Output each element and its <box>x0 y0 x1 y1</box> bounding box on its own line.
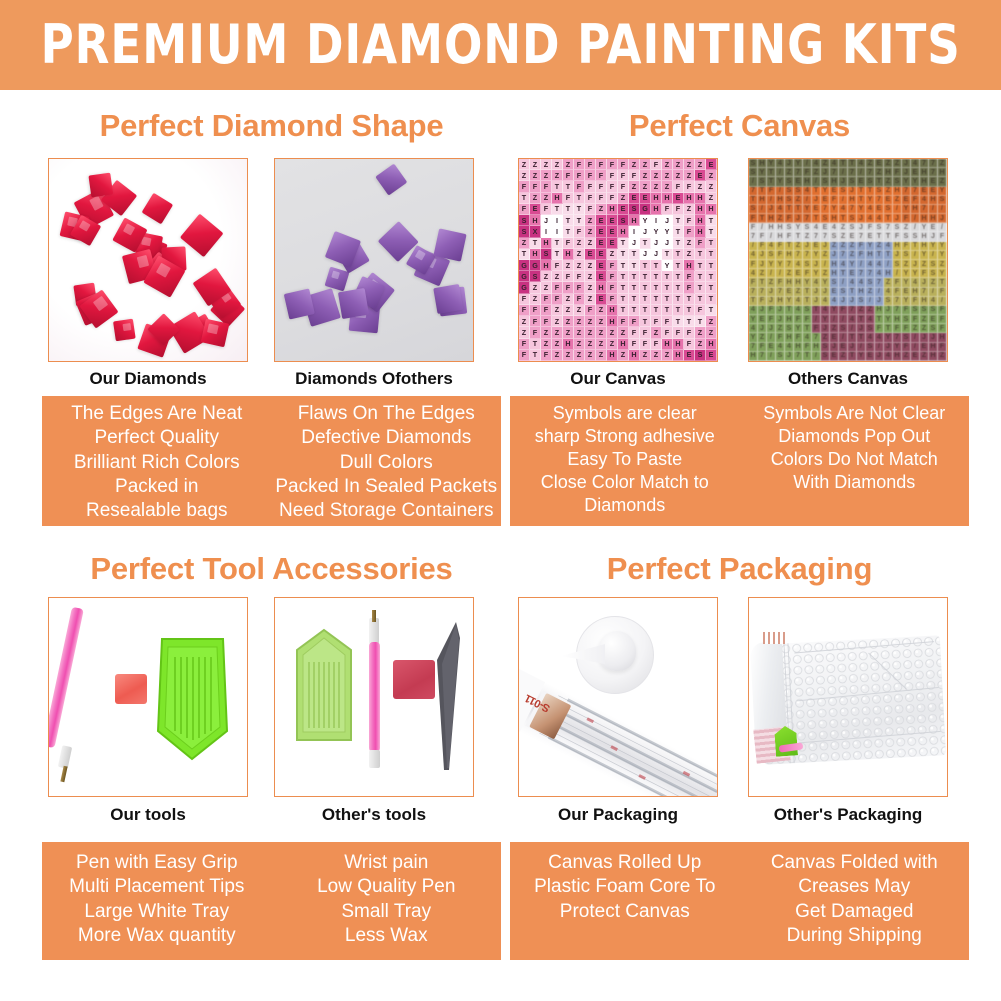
canvas-symbol-cell: S <box>848 177 857 186</box>
canvas-symbol-cell: Y <box>902 278 911 287</box>
canvas-symbol-cell: Z <box>607 327 618 338</box>
canvas-symbol-cell: X <box>530 226 541 237</box>
panel-line: Pen with Easy Grip <box>76 851 238 875</box>
canvas-symbol-cell: S <box>866 343 875 352</box>
canvas-symbol-cell: Z <box>541 339 552 350</box>
canvas-symbol-cell: T <box>640 271 651 282</box>
canvas-symbol-cell: I <box>541 226 552 237</box>
canvas-symbol-cell: I <box>552 215 563 226</box>
canvas-symbol-cell: 4 <box>911 278 920 287</box>
canvas-symbol-cell: / <box>839 196 848 205</box>
canvas-symbol-cell: Y <box>902 297 911 306</box>
canvas-symbol-cell: F <box>911 196 920 205</box>
canvas-symbol-cell: 4 <box>830 223 839 232</box>
canvas-symbol-cell: / <box>767 196 776 205</box>
canvas-symbol-cell: S <box>911 232 920 241</box>
canvas-symbol-cell: F <box>629 170 640 181</box>
canvas-symbol-cell: H <box>830 260 839 269</box>
canvas-symbol-cell: H <box>893 315 902 324</box>
canvas-symbol-cell: F <box>563 271 574 282</box>
canvas-symbol-cell: T <box>618 282 629 293</box>
canvas-symbol-cell: F <box>902 343 911 352</box>
canvas-symbol-cell: 7 <box>848 205 857 214</box>
canvas-symbol-cell: Z <box>857 306 866 315</box>
canvas-symbol-cell: S <box>839 187 848 196</box>
canvas-symbol-cell: T <box>651 294 662 305</box>
canvas-symbol-cell: F <box>673 204 684 215</box>
canvas-symbol-cell: J <box>920 333 929 342</box>
canvas-symbol-cell: F <box>920 269 929 278</box>
canvas-symbol-cell: 7 <box>758 288 767 297</box>
canvas-symbol-cell: Z <box>673 170 684 181</box>
canvas-symbol-cell: 4 <box>866 205 875 214</box>
canvas-symbol-cell: F <box>695 238 706 249</box>
canvas-symbol-cell: E <box>929 223 938 232</box>
panel-column-ours: Canvas Rolled Up Plastic Foam Core To Pr… <box>510 842 740 960</box>
canvas-symbol-cell: Z <box>541 170 552 181</box>
canvas-symbol-cell: T <box>673 238 684 249</box>
canvas-symbol-cell: T <box>875 177 884 186</box>
canvas-symbol-cell: H <box>848 196 857 205</box>
canvas-symbol-cell: Y <box>830 306 839 315</box>
canvas-symbol-cell: S <box>902 315 911 324</box>
canvas-symbol-cell: F <box>541 204 552 215</box>
canvas-symbol-cell: T <box>706 249 717 260</box>
canvas-symbol-cell: T <box>884 232 893 241</box>
canvas-symbol-cell: 7 <box>893 333 902 342</box>
canvas-symbol-cell: E <box>596 271 607 282</box>
canvas-symbol-cell: T <box>530 339 541 350</box>
canvas-symbol-cell: Y <box>857 352 866 361</box>
canvas-symbol-cell: H <box>938 333 947 342</box>
canvas-symbol-cell: J <box>785 159 794 168</box>
canvas-symbol-cell: F <box>794 315 803 324</box>
canvas-symbol-cell: F <box>574 294 585 305</box>
canvas-symbol-cell: H <box>938 168 947 177</box>
canvas-symbol-cell: S <box>785 223 794 232</box>
canvas-symbol-cell: 7 <box>749 288 758 297</box>
canvas-symbol-cell: Y <box>662 260 673 271</box>
canvas-symbol-cell: T <box>662 282 673 293</box>
canvas-symbol-cell: Z <box>541 282 552 293</box>
canvas-symbol-cell: 7 <box>749 232 758 241</box>
canvas-symbol-cell: Z <box>794 242 803 251</box>
canvas-symbol-cell: Z <box>640 159 651 170</box>
canvas-symbol-cell: Z <box>794 288 803 297</box>
canvas-symbol-cell: T <box>803 288 812 297</box>
canvas-symbol-cell: F <box>607 159 618 170</box>
canvas-symbol-cell: F <box>519 350 530 361</box>
caption-other-diamonds: Diamonds Ofothers <box>274 370 474 387</box>
canvas-symbol-cell: Z <box>938 159 947 168</box>
canvas-symbol-cell: J <box>821 288 830 297</box>
tray-icon <box>293 628 355 744</box>
canvas-symbol-cell: F <box>911 315 920 324</box>
canvas-symbol-cell: Z <box>839 242 848 251</box>
canvas-symbol-cell: 7 <box>848 306 857 315</box>
canvas-symbol-cell: Z <box>695 159 706 170</box>
panel-line: Wrist pain <box>344 851 428 875</box>
canvas-symbol-cell: E <box>596 238 607 249</box>
canvas-symbol-cell: H <box>767 214 776 223</box>
canvas-symbol-cell: Z <box>519 327 530 338</box>
canvas-symbol-cell: Z <box>519 170 530 181</box>
canvas-symbol-cell: H <box>776 223 785 232</box>
panel-line: Need Storage Containers <box>279 499 493 523</box>
canvas-symbol-cell: / <box>893 269 902 278</box>
canvas-symbol-cell: E <box>607 215 618 226</box>
canvas-symbol-cell: Y <box>884 315 893 324</box>
section-title-canvas: Perfect Canvas <box>510 110 969 141</box>
canvas-symbol-cell: / <box>839 315 848 324</box>
canvas-symbol-cell: E <box>830 187 839 196</box>
canvas-symbol-cell: E <box>884 196 893 205</box>
photo-our-canvas: ZZZZZFFFFFZZFZZZZEZZZZFFFFFFFZZZZZEZFFFT… <box>518 158 718 362</box>
panel-line: Diamonds <box>584 494 665 517</box>
canvas-symbol-cell: Y <box>938 251 947 260</box>
canvas-symbol-cell: J <box>893 214 902 223</box>
canvas-symbol-cell: T <box>673 271 684 282</box>
canvas-symbol-cell: 4 <box>884 242 893 251</box>
canvas-symbol-cell: Y <box>830 205 839 214</box>
canvas-symbol-cell: 4 <box>830 297 839 306</box>
canvas-symbol-cell: / <box>812 352 821 361</box>
canvas-symbol-cell: H <box>911 288 920 297</box>
canvas-symbol-cell: F <box>629 327 640 338</box>
canvas-symbol-cell: H <box>749 352 758 361</box>
canvas-symbol-cell: E <box>706 159 717 170</box>
canvas-symbol-cell: 4 <box>875 214 884 223</box>
canvas-symbol-cell: S <box>929 306 938 315</box>
canvas-symbol-cell: T <box>706 282 717 293</box>
canvas-symbol-cell: S <box>803 260 812 269</box>
canvas-symbol-cell: Z <box>662 170 673 181</box>
canvas-symbol-cell: Z <box>552 170 563 181</box>
canvas-symbol-cell: T <box>640 238 651 249</box>
canvas-symbol-cell: 4 <box>749 324 758 333</box>
canvas-symbol-cell: E <box>920 187 929 196</box>
canvas-symbol-cell: / <box>893 205 902 214</box>
canvas-symbol-cell: F <box>684 271 695 282</box>
canvas-symbol-cell: F <box>607 260 618 271</box>
canvas-symbol-cell: H <box>758 196 767 205</box>
canvas-symbol-cell: H <box>884 168 893 177</box>
canvas-symbol-cell: 7 <box>893 297 902 306</box>
section-title-tools: Perfect Tool Accessories <box>42 553 501 584</box>
canvas-symbol-cell: 4 <box>857 278 866 287</box>
canvas-symbol-cell: S <box>902 232 911 241</box>
canvas-symbol-cell: H <box>629 350 640 361</box>
canvas-symbol-cell: J <box>812 297 821 306</box>
canvas-symbol-cell: 7 <box>848 168 857 177</box>
canvas-symbol-cell: S <box>749 205 758 214</box>
canvas-symbol-cell: Z <box>875 168 884 177</box>
canvas-symbol-cell: F <box>530 316 541 327</box>
canvas-symbol-cell: / <box>938 223 947 232</box>
canvas-symbol-cell: / <box>839 278 848 287</box>
canvas-symbol-cell: T <box>552 181 563 192</box>
canvas-symbol-cell: G <box>519 271 530 282</box>
canvas-symbol-cell: Z <box>607 249 618 260</box>
canvas-symbol-cell: Z <box>902 223 911 232</box>
canvas-symbol-cell: F <box>749 214 758 223</box>
canvas-symbol-cell: Z <box>574 339 585 350</box>
canvas-symbol-cell: F <box>618 316 629 327</box>
canvas-symbol-cell: Z <box>552 339 563 350</box>
canvas-symbol-cell: S <box>794 187 803 196</box>
caption-other-packaging: Other's Packaging <box>748 806 948 823</box>
canvas-symbol-cell: Z <box>893 159 902 168</box>
canvas-symbol-cell: S <box>929 269 938 278</box>
canvas-symbol-cell: T <box>875 251 884 260</box>
canvas-symbol-cell: J <box>640 226 651 237</box>
canvas-symbol-cell: Y <box>911 177 920 186</box>
canvas-symbol-cell: / <box>821 260 830 269</box>
canvas-symbol-cell: H <box>776 232 785 241</box>
canvas-symbol-cell: J <box>776 306 785 315</box>
canvas-symbol-cell: F <box>776 251 785 260</box>
canvas-symbol-cell: S <box>938 196 947 205</box>
canvas-symbol-cell: F <box>651 316 662 327</box>
canvas-symbol-cell: J <box>767 297 776 306</box>
canvas-symbol-cell: Z <box>574 260 585 271</box>
canvas-symbol-cell: S <box>803 223 812 232</box>
canvas-symbol-cell: F <box>574 282 585 293</box>
canvas-symbol-cell: E <box>794 177 803 186</box>
canvas-symbol-cell: T <box>618 305 629 316</box>
canvas-symbol-cell: / <box>767 333 776 342</box>
canvas-symbol-cell: S <box>541 249 552 260</box>
canvas-symbol-cell: T <box>785 205 794 214</box>
canvas-symbol-cell: / <box>776 269 785 278</box>
canvas-symbol-cell: Y <box>776 177 785 186</box>
canvas-symbol-cell: Z <box>596 316 607 327</box>
canvas-symbol-cell: S <box>821 343 830 352</box>
art-other-tools <box>275 598 473 796</box>
canvas-symbol-cell: 4 <box>767 242 776 251</box>
canvas-symbol-cell: T <box>519 193 530 204</box>
canvas-symbol-cell: F <box>803 269 812 278</box>
canvas-symbol-cell: T <box>629 305 640 316</box>
canvas-symbol-cell: F <box>541 316 552 327</box>
art-bubble-mailer <box>749 598 947 796</box>
canvas-symbol-cell: F <box>618 170 629 181</box>
canvas-symbol-cell: T <box>875 315 884 324</box>
canvas-symbol-cell: Z <box>684 204 695 215</box>
canvas-symbol-cell: Z <box>911 324 920 333</box>
canvas-symbol-cell: J <box>821 242 830 251</box>
canvas-symbol-cell: E <box>640 193 651 204</box>
canvas-symbol-cell: T <box>673 294 684 305</box>
art-blurry-symbol-canvas: SHY4JY/4Z4TT4ZEZZJ477ZSYT/Z7FZJ7/7/7ZHFJ… <box>749 159 947 361</box>
canvas-symbol-cell: G <box>519 260 530 271</box>
canvas-symbol-cell: E <box>673 193 684 204</box>
canvas-symbol-cell: T <box>785 242 794 251</box>
panel-line: Large White Tray <box>84 900 229 924</box>
canvas-symbol-cell: J <box>848 187 857 196</box>
canvas-symbol-cell: F <box>911 297 920 306</box>
canvas-symbol-cell: F <box>758 297 767 306</box>
canvas-symbol-cell: J <box>662 215 673 226</box>
canvas-symbol-cell: Z <box>830 242 839 251</box>
canvas-symbol-cell: J <box>911 260 920 269</box>
canvas-symbol-cell: / <box>812 177 821 186</box>
canvas-symbol-cell: E <box>596 226 607 237</box>
canvas-symbol-cell: H <box>812 343 821 352</box>
canvas-symbol-cell: 7 <box>929 159 938 168</box>
canvas-symbol-cell: 4 <box>839 205 848 214</box>
canvas-symbol-cell: Y <box>794 159 803 168</box>
canvas-symbol-cell: H <box>563 339 574 350</box>
diamond-drill <box>433 284 463 314</box>
canvas-symbol-cell: Z <box>695 181 706 192</box>
panel-column-ours: The Edges Are Neat Perfect Quality Brill… <box>42 396 272 526</box>
canvas-symbol-cell: J <box>902 159 911 168</box>
canvas-symbol-cell: T <box>618 271 629 282</box>
canvas-symbol-cell: / <box>929 288 938 297</box>
canvas-symbol-cell: Y <box>803 205 812 214</box>
canvas-symbol-cell: 4 <box>812 223 821 232</box>
panel-column-ours: Symbols are clear sharp Strong adhesive … <box>510 396 740 526</box>
canvas-symbol-cell: Z <box>585 294 596 305</box>
photo-our-diamonds <box>48 158 248 362</box>
canvas-symbol-cell: H <box>785 333 794 342</box>
canvas-symbol-cell: 7 <box>929 168 938 177</box>
canvas-symbol-cell: F <box>552 282 563 293</box>
canvas-symbol-cell: Z <box>585 260 596 271</box>
canvas-symbol-cell: Z <box>662 350 673 361</box>
panel-packaging-comparison: Canvas Rolled Up Plastic Foam Core To Pr… <box>510 842 969 960</box>
canvas-symbol-cell: E <box>857 177 866 186</box>
canvas-symbol-cell: 4 <box>848 278 857 287</box>
canvas-symbol-cell: J <box>629 238 640 249</box>
canvas-symbol-cell: F <box>893 168 902 177</box>
canvas-symbol-cell: F <box>749 223 758 232</box>
canvas-symbol-cell: T <box>651 271 662 282</box>
canvas-symbol-cell: Z <box>785 269 794 278</box>
art-red-diamonds <box>49 159 247 361</box>
canvas-symbol-cell: 4 <box>785 343 794 352</box>
canvas-symbol-cell: J <box>821 168 830 177</box>
canvas-symbol-cell: J <box>875 352 884 361</box>
canvas-symbol-cell: Z <box>706 181 717 192</box>
canvas-symbol-cell: H <box>695 215 706 226</box>
canvas-symbol-cell: 4 <box>794 306 803 315</box>
panel-line: Plastic Foam Core To <box>534 875 715 899</box>
canvas-symbol-cell: S <box>875 187 884 196</box>
canvas-symbol-cell: S <box>785 324 794 333</box>
canvas-symbol-cell: T <box>749 196 758 205</box>
canvas-symbol-cell: S <box>893 177 902 186</box>
canvas-symbol-cell: T <box>884 214 893 223</box>
canvas-symbol-cell: / <box>875 288 884 297</box>
canvas-symbol-cell: 4 <box>857 159 866 168</box>
canvas-symbol-cell: Z <box>552 305 563 316</box>
canvas-symbol-cell: Y <box>884 333 893 342</box>
canvas-symbol-cell: Y <box>911 269 920 278</box>
canvas-symbol-cell: Z <box>552 271 563 282</box>
canvas-symbol-cell: F <box>830 196 839 205</box>
canvas-symbol-cell: H <box>893 187 902 196</box>
canvas-symbol-cell: F <box>857 242 866 251</box>
canvas-symbol-cell: Y <box>662 226 673 237</box>
canvas-symbol-cell: Z <box>785 168 794 177</box>
canvas-symbol-cell: Z <box>848 251 857 260</box>
panel-line: Close Color Match to <box>541 471 709 494</box>
canvas-symbol-cell: F <box>651 339 662 350</box>
canvas-symbol-cell: F <box>519 181 530 192</box>
canvas-symbol-cell: Z <box>552 159 563 170</box>
canvas-symbol-cell: Z <box>938 260 947 269</box>
canvas-symbol-cell: Z <box>596 204 607 215</box>
canvas-symbol-cell: Z <box>552 327 563 338</box>
canvas-symbol-cell: H <box>684 193 695 204</box>
canvas-symbol-cell: T <box>651 260 662 271</box>
canvas-symbol-cell: Z <box>618 193 629 204</box>
panel-canvas-comparison: Symbols are clear sharp Strong adhesive … <box>510 396 969 526</box>
panel-diamond-comparison: The Edges Are Neat Perfect Quality Brill… <box>42 396 501 526</box>
canvas-symbol-cell: F <box>541 305 552 316</box>
canvas-symbol-cell: 7 <box>875 278 884 287</box>
canvas-symbol-cell: S <box>785 177 794 186</box>
canvas-symbol-cell: F <box>767 187 776 196</box>
canvas-symbol-cell: F <box>902 324 911 333</box>
canvas-symbol-cell: H <box>920 232 929 241</box>
canvas-symbol-cell: T <box>673 226 684 237</box>
canvas-symbol-cell: 7 <box>821 205 830 214</box>
canvas-symbol-cell: E <box>929 187 938 196</box>
canvas-symbol-cell: J <box>884 343 893 352</box>
canvas-symbol-cell: T <box>552 204 563 215</box>
canvas-symbol-cell: T <box>695 271 706 282</box>
canvas-symbol-cell: J <box>662 238 673 249</box>
canvas-symbol-cell: J <box>803 242 812 251</box>
canvas-symbol-cell: F <box>585 181 596 192</box>
canvas-symbol-cell: E <box>848 269 857 278</box>
canvas-symbol-cell: F <box>607 294 618 305</box>
canvas-symbol-cell: / <box>839 333 848 342</box>
canvas-symbol-cell: F <box>607 193 618 204</box>
pen-needle-icon <box>372 610 376 622</box>
canvas-symbol-cell: H <box>920 177 929 186</box>
canvas-symbol-cell: Z <box>758 269 767 278</box>
canvas-symbol-cell: E <box>596 294 607 305</box>
canvas-symbol-cell: E <box>830 333 839 342</box>
canvas-symbol-cell: / <box>767 269 776 278</box>
canvas-symbol-cell: Z <box>866 159 875 168</box>
canvas-symbol-cell: Z <box>938 352 947 361</box>
panel-line: More Wax quantity <box>78 924 236 948</box>
canvas-symbol-cell: J <box>758 260 767 269</box>
canvas-symbol-cell: S <box>758 177 767 186</box>
panel-line: Defective Diamonds <box>301 426 471 450</box>
canvas-symbol-cell: H <box>794 343 803 352</box>
canvas-symbol-cell: F <box>758 242 767 251</box>
canvas-symbol-cell: Z <box>893 196 902 205</box>
canvas-symbol-cell: H <box>662 193 673 204</box>
canvas-symbol-cell: Z <box>563 327 574 338</box>
canvas-symbol-cell: Z <box>585 226 596 237</box>
canvas-symbol-cell: F <box>673 327 684 338</box>
canvas-symbol-cell: F <box>938 343 947 352</box>
canvas-symbol-cell: 7 <box>803 251 812 260</box>
canvas-symbol-cell: Z <box>695 339 706 350</box>
canvas-symbol-cell: T <box>767 168 776 177</box>
canvas-symbol-cell: E <box>706 350 717 361</box>
canvas-symbol-cell: / <box>884 260 893 269</box>
canvas-symbol-cell: S <box>848 223 857 232</box>
panel-line: Packed in <box>115 475 198 499</box>
